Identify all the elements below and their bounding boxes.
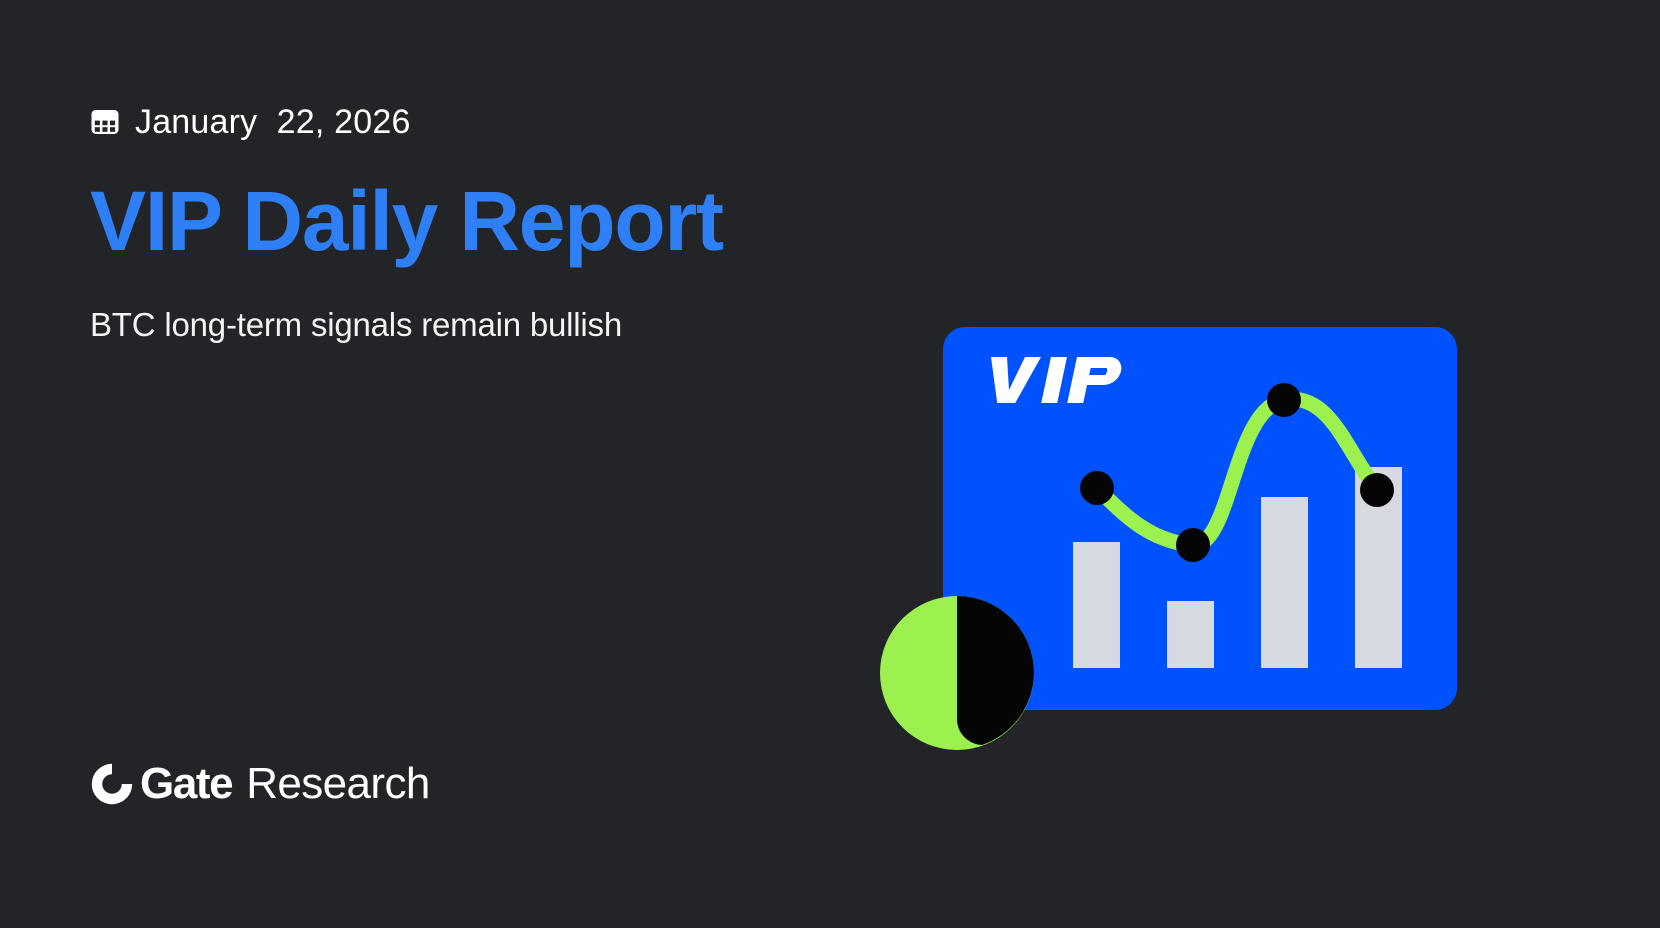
gate-logo-icon <box>90 762 134 806</box>
brand-name-gate: Gate <box>140 762 232 806</box>
data-point-3 <box>1267 383 1301 417</box>
brand-name-research: Research <box>246 762 430 806</box>
brand-logo: Gate Research <box>90 758 430 810</box>
bar-1 <box>1073 542 1120 668</box>
vip-report-illustration <box>860 300 1500 780</box>
accent-circle <box>880 596 1034 750</box>
page-subtitle: BTC long-term signals remain bullish <box>90 305 622 345</box>
data-point-4 <box>1360 473 1394 507</box>
date-row: January 22, 2026 <box>90 98 411 146</box>
accent-circle-wedge-lower <box>957 673 1034 745</box>
bar-3 <box>1261 497 1308 668</box>
page-title: VIP Daily Report <box>90 176 723 267</box>
bar-2 <box>1167 601 1214 668</box>
report-date: January 22, 2026 <box>135 105 411 139</box>
data-point-1 <box>1080 471 1114 505</box>
data-point-2 <box>1176 528 1210 562</box>
calendar-icon <box>90 107 120 137</box>
